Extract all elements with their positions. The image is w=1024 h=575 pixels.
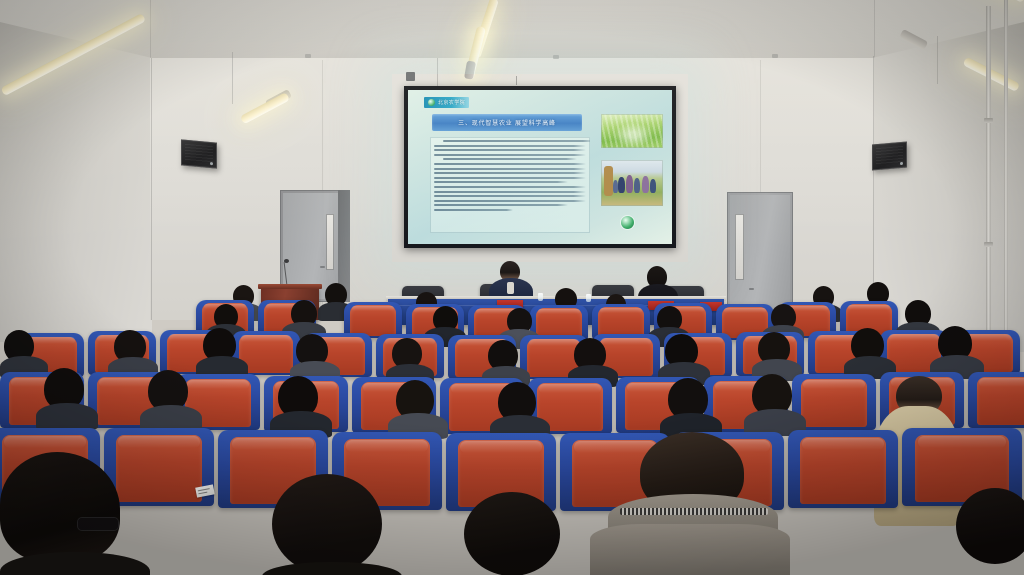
light-drop-wire bbox=[937, 36, 938, 84]
slide-surface: 北京农学院 三、现代智慧农业 展望科学高峰 bbox=[408, 90, 672, 244]
audience-member bbox=[930, 326, 984, 378]
wall-conduit-pipe bbox=[986, 6, 991, 336]
audience-member bbox=[752, 332, 802, 380]
slide-body-line bbox=[434, 177, 586, 179]
slide-body-line bbox=[434, 145, 586, 147]
slide-title-text: 三、现代智慧农业 展望科学高峰 bbox=[458, 118, 556, 127]
water-bottle bbox=[538, 293, 543, 301]
wall-conduit-pipe bbox=[1004, 0, 1008, 336]
audience-member bbox=[956, 488, 1024, 575]
projection-screen[interactable]: 北京农学院 三、现代智慧农业 展望科学高峰 bbox=[404, 86, 676, 248]
slide-title-bar: 三、现代智慧农业 展望科学高峰 bbox=[432, 114, 582, 131]
slide-body-line bbox=[443, 140, 590, 142]
slide-body-line bbox=[434, 200, 586, 202]
lecture-hall-photo: 北京农学院 三、现代智慧农业 展望科学高峰 bbox=[0, 0, 1024, 575]
hood-print-band bbox=[620, 508, 768, 515]
light-drop-wire bbox=[232, 52, 233, 104]
slide-body-line bbox=[443, 158, 577, 160]
slide-body-line bbox=[434, 209, 513, 211]
slide-body-line bbox=[434, 149, 586, 151]
audience-member bbox=[290, 334, 340, 382]
wall-corner-left bbox=[151, 58, 152, 320]
university-logo-text: 北京农学院 bbox=[438, 99, 465, 106]
slide-body-line bbox=[434, 163, 586, 165]
ceiling-anchor bbox=[772, 54, 778, 58]
ceiling-anchor bbox=[553, 55, 559, 59]
university-emblem-icon bbox=[428, 99, 435, 106]
slide-seal-emblem bbox=[621, 216, 634, 229]
slide-body-text bbox=[430, 137, 590, 233]
audience-member bbox=[388, 380, 448, 438]
ceiling-anchor bbox=[305, 54, 311, 58]
audience-member bbox=[490, 382, 550, 440]
slide-body-line bbox=[434, 168, 586, 170]
field-group-photo bbox=[601, 160, 663, 206]
audience-member bbox=[844, 328, 896, 378]
audience-member-glasses bbox=[0, 452, 150, 575]
audience-member bbox=[262, 474, 402, 575]
audience-member bbox=[140, 370, 202, 430]
screen-mount-bracket bbox=[406, 72, 415, 81]
eyeglasses bbox=[78, 518, 118, 530]
slide-body-line bbox=[434, 191, 586, 193]
slide-body-line bbox=[434, 172, 586, 174]
audience-member bbox=[270, 376, 332, 436]
slide-body-line bbox=[434, 154, 586, 156]
gooseneck-microphone bbox=[284, 259, 289, 263]
auditorium-seat[interactable] bbox=[968, 372, 1024, 428]
wall-speaker-right bbox=[872, 141, 907, 170]
slide-body-line bbox=[434, 204, 568, 206]
auditorium-seat[interactable] bbox=[788, 430, 898, 508]
wall-speaker-left bbox=[181, 139, 217, 168]
side-door-right[interactable] bbox=[727, 192, 793, 312]
slide-body-line bbox=[434, 195, 586, 197]
slide-body-line bbox=[434, 186, 586, 188]
wall-left bbox=[0, 22, 152, 342]
audience-member bbox=[36, 368, 98, 428]
green-terrace-field-photo bbox=[601, 114, 663, 148]
water-bottle bbox=[586, 294, 591, 302]
audience-member bbox=[744, 374, 806, 434]
slide-body-line bbox=[434, 181, 568, 183]
ceiling-seam bbox=[874, 0, 875, 58]
university-logo: 北京农学院 bbox=[424, 97, 469, 108]
audience-member bbox=[454, 492, 574, 575]
ceiling-seam bbox=[150, 0, 151, 60]
gray-hooded-jacket-attendee bbox=[590, 432, 790, 575]
audience-member bbox=[196, 328, 248, 378]
screen-cable bbox=[516, 76, 517, 85]
audience-member bbox=[660, 378, 722, 438]
